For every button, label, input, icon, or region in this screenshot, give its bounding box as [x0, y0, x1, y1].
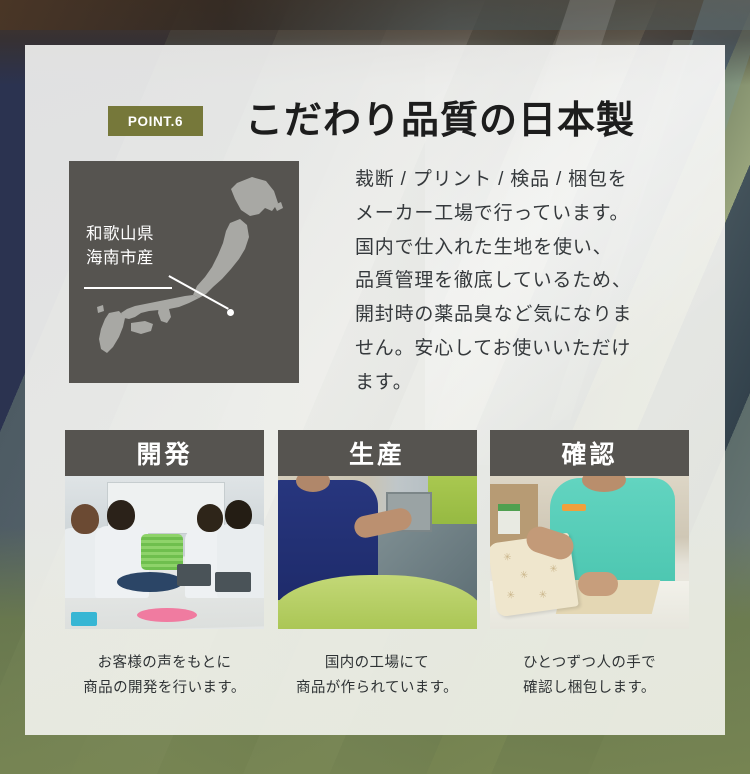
- process-card-title: 生産: [278, 430, 477, 476]
- process-card-photo-development: [65, 476, 264, 629]
- page-title: こだわり品質の日本製: [245, 102, 635, 140]
- japan-map-icon: [69, 161, 299, 383]
- process-card-photo-confirmation: ✳ ✳ ✳ ✳ ✳ ✳: [490, 476, 689, 629]
- origin-map-card: 和歌山県 海南市産: [69, 161, 299, 383]
- process-card-caption: ひとつずつ人の手で 確認し梱包します。: [490, 651, 689, 702]
- origin-label: 和歌山県 海南市産: [86, 223, 154, 271]
- process-card-title: 確認: [490, 430, 689, 476]
- process-card: 確認 ✳ ✳ ✳ ✳ ✳ ✳: [490, 430, 689, 702]
- origin-section: 和歌山県 海南市産 裁断 / プリント / 検品 / 梱包を メーカー工場で行っ…: [25, 161, 725, 411]
- header: POINT.6 こだわり品質の日本製: [25, 90, 725, 152]
- process-card-title: 開発: [65, 430, 264, 476]
- body-paragraph: 裁断 / プリント / 検品 / 梱包を メーカー工場で行っています。 国内で仕…: [355, 163, 695, 400]
- origin-label-underline: [84, 287, 172, 289]
- background-top-beam: [0, 0, 750, 30]
- process-card-photo-production: [278, 476, 477, 629]
- content-panel: POINT.6 こだわり品質の日本製: [25, 45, 725, 735]
- process-card-caption: 国内の工場にて 商品が作られています。: [278, 651, 477, 702]
- process-card-list: 開発: [65, 430, 689, 702]
- process-card: 生産 国内の工場にて 商品が作られています。: [278, 430, 477, 702]
- process-card: 開発: [65, 430, 264, 702]
- process-card-caption: お客様の声をもとに 商品の開発を行います。: [65, 651, 264, 702]
- page-root: POINT.6 こだわり品質の日本製: [0, 0, 750, 774]
- point-badge: POINT.6: [108, 106, 203, 136]
- map-pin-dot: [227, 309, 234, 316]
